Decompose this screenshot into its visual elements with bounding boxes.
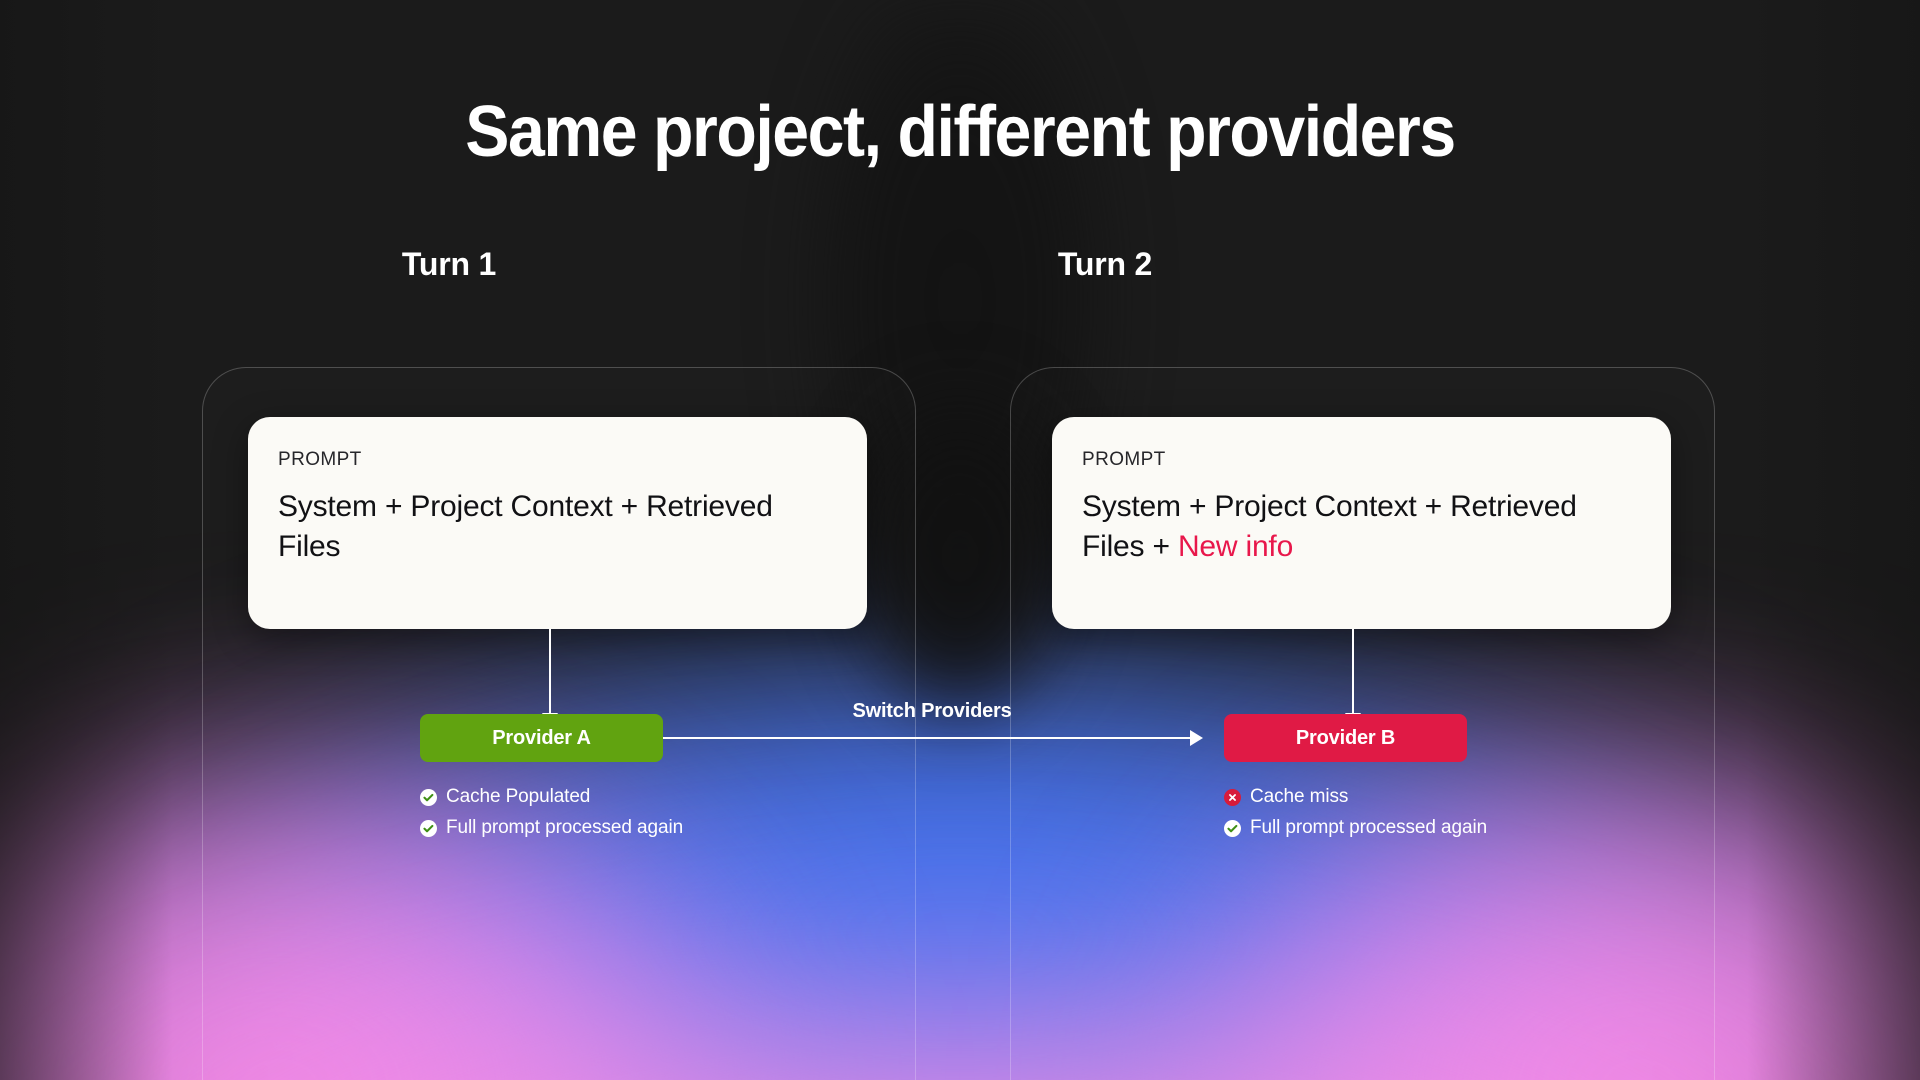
status-item-label: Full prompt processed again [446, 817, 683, 840]
status-item: Full prompt processed again [420, 817, 683, 840]
page-title: Same project, different providers [77, 96, 1843, 168]
x-circle-icon [1224, 789, 1241, 806]
turn-1-prompt-kicker: PROMPT [278, 449, 837, 471]
turn-2-prompt-body: System + Project Context + Retrieved Fil… [1082, 487, 1641, 566]
status-item: Cache miss [1224, 786, 1487, 809]
switch-providers-label: Switch Providers [663, 700, 1201, 723]
turn-1-prompt-body: System + Project Context + Retrieved Fil… [278, 487, 837, 566]
status-item-label: Cache Populated [446, 786, 590, 809]
turn-2-arrow-down-icon [1352, 629, 1354, 725]
turn-1-label: Turn 1 [329, 246, 569, 283]
turn-1-status-list: Cache Populated Full prompt processed ag… [420, 786, 683, 848]
turn-2-label: Turn 2 [985, 246, 1225, 283]
check-circle-icon [1224, 820, 1241, 837]
status-item: Cache Populated [420, 786, 683, 809]
turn-2-prompt-highlight: New info [1178, 530, 1293, 563]
status-item: Full prompt processed again [1224, 817, 1487, 840]
turn-2-prompt-kicker: PROMPT [1082, 449, 1641, 471]
provider-a-button[interactable]: Provider A [420, 714, 663, 762]
provider-b-label: Provider B [1296, 727, 1395, 750]
provider-b-button[interactable]: Provider B [1224, 714, 1467, 762]
status-item-label: Cache miss [1250, 786, 1348, 809]
turn-1-prompt-text: System + Project Context + Retrieved Fil… [278, 490, 773, 563]
diagram-content: Same project, different providers Turn 1… [0, 0, 1920, 1080]
status-item-label: Full prompt processed again [1250, 817, 1487, 840]
check-circle-icon [420, 789, 437, 806]
check-circle-icon [420, 820, 437, 837]
turn-2-prompt-text: System + Project Context + Retrieved Fil… [1082, 490, 1577, 563]
turn-2-prompt-card: PROMPT System + Project Context + Retrie… [1052, 417, 1671, 629]
turn-1-arrow-down-icon [549, 629, 551, 725]
turn-2-status-list: Cache miss Full prompt processed again [1224, 786, 1487, 848]
switch-providers-arrow-right-icon [663, 737, 1201, 739]
turn-1-prompt-card: PROMPT System + Project Context + Retrie… [248, 417, 867, 629]
diagram-canvas: Same project, different providers Turn 1… [0, 0, 1920, 1080]
provider-a-label: Provider A [492, 727, 590, 750]
